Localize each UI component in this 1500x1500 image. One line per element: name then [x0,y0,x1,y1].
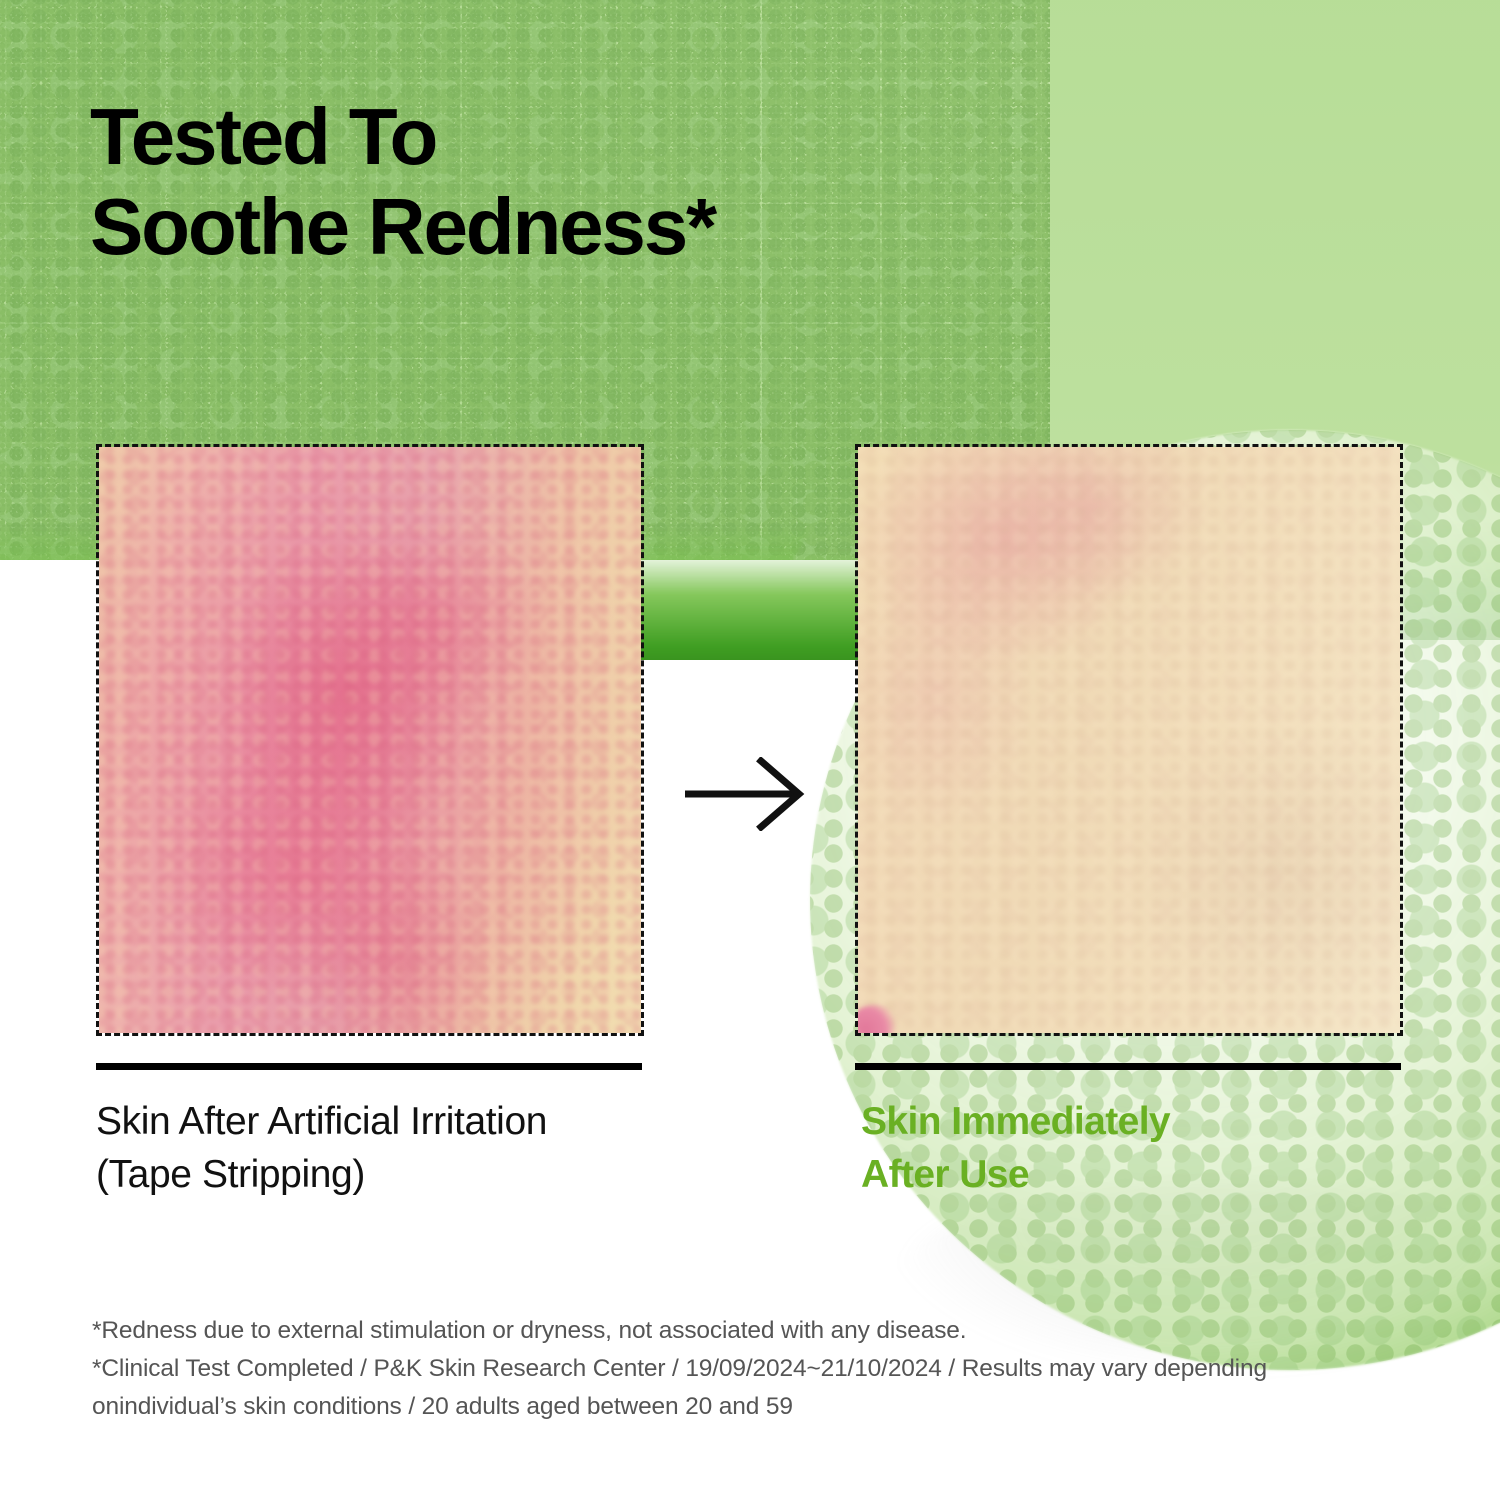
divider-rule-after [855,1063,1401,1070]
caption-before: Skin After Artificial Irritation (Tape S… [96,1096,547,1201]
caption-after: Skin Immediately After Use [861,1096,1170,1201]
skin-after-corner-blemish [855,1005,898,1036]
skin-before-texture [99,447,641,1033]
skin-after-photo [855,444,1403,1036]
disclaimer-block: *Redness due to external stimulation or … [92,1312,1432,1426]
arrow-right-icon [683,757,808,831]
skin-before-photo [96,444,644,1036]
divider-rule-before [96,1063,642,1070]
disclaimer-line-3: onindividual’s skin conditions / 20 adul… [92,1388,1432,1426]
page-title: Tested To Soothe Redness* [90,92,715,271]
skin-after-texture [858,447,1400,1033]
disclaimer-line-1: *Redness due to external stimulation or … [92,1312,1432,1350]
promo-image-canvas: Tested To Soothe Redness* Skin After Art… [0,0,1500,1500]
disclaimer-line-2: *Clinical Test Completed / P&K Skin Rese… [92,1350,1432,1388]
